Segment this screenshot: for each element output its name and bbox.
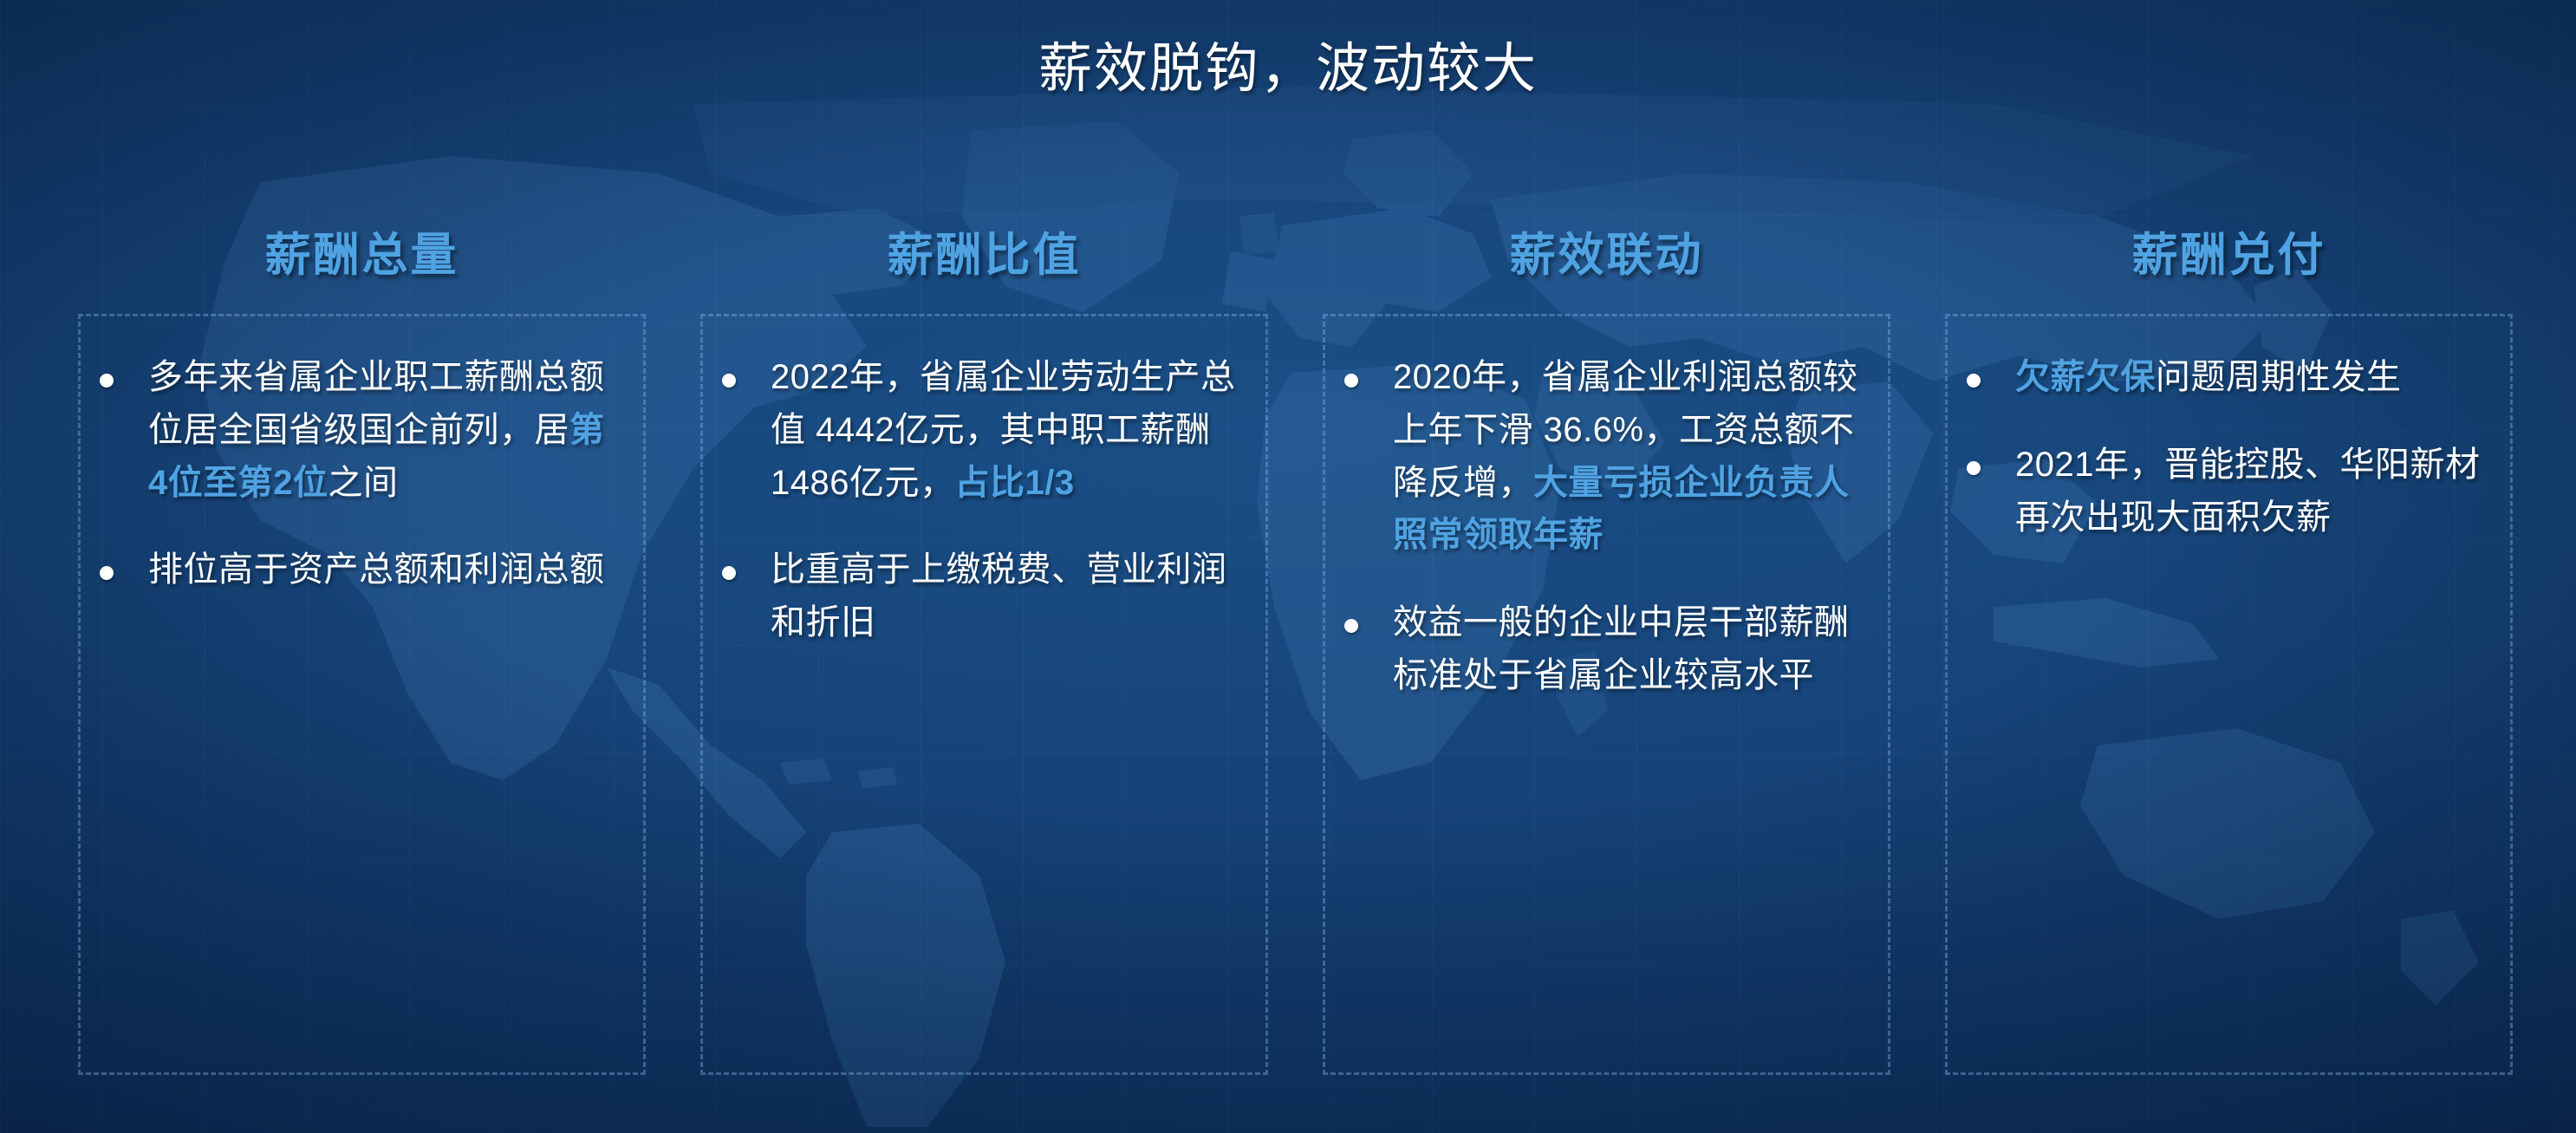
plain-text: 之间 bbox=[329, 464, 399, 502]
column-box-4: 欠薪欠保问题周期性发生 2021年，晋能控股、华阳新材再次出现大面积欠薪 bbox=[1945, 314, 2513, 1075]
bullet-dot-icon bbox=[1344, 619, 1358, 633]
page-title: 薪效脱钩，波动较大 bbox=[0, 24, 2576, 102]
bullet-text: 欠薪欠保问题周期性发生 bbox=[2015, 351, 2484, 404]
bullet-text: 2020年，省属企业利润总额较上年下滑 36.6%，工资总额不降反增，大量亏损企… bbox=[1393, 351, 1862, 562]
list-item: 2022年，省属企业劳动生产总值 4442亿元，其中职工薪酬1486亿元，占比1… bbox=[722, 351, 1239, 509]
plain-text: 比重高于上缴税费、营业利润和折旧 bbox=[771, 550, 1227, 641]
bullet-text: 2021年，晋能控股、华阳新材再次出现大面积欠薪 bbox=[2015, 439, 2484, 544]
column-box-1: 多年来省属企业职工薪酬总额位居全国省级国企前列，居第4位至第2位之间 排位高于资… bbox=[78, 314, 646, 1075]
list-item: 多年来省属企业职工薪酬总额位居全国省级国企前列，居第4位至第2位之间 bbox=[100, 351, 617, 509]
column-salary-ratio: 薪酬比值 2022年，省属企业劳动生产总值 4442亿元，其中职工薪酬1486亿… bbox=[700, 208, 1268, 1075]
column-header-4: 薪酬兑付 bbox=[1945, 208, 2513, 314]
list-item: 排位高于资产总额和利润总额 bbox=[100, 544, 617, 596]
bullet-dot-icon bbox=[1967, 461, 1981, 475]
bullet-dot-icon bbox=[100, 374, 114, 387]
highlighted-text: 占比1/3 bbox=[954, 464, 1074, 502]
plain-text: 问题周期性发生 bbox=[2156, 358, 2402, 396]
highlighted-text: 欠薪欠保 bbox=[2015, 358, 2156, 396]
bullet-text: 排位高于资产总额和利润总额 bbox=[148, 544, 617, 596]
bullet-dot-icon bbox=[100, 566, 114, 580]
bullet-dot-icon bbox=[1344, 374, 1358, 387]
column-box-2: 2022年，省属企业劳动生产总值 4442亿元，其中职工薪酬1486亿元，占比1… bbox=[700, 314, 1268, 1075]
list-item: 2020年，省属企业利润总额较上年下滑 36.6%，工资总额不降反增，大量亏损企… bbox=[1344, 351, 1862, 562]
column-salary-payment: 薪酬兑付 欠薪欠保问题周期性发生 2021年，晋能控股、华阳新材再次出现大面积欠… bbox=[1945, 208, 2513, 1075]
list-item: 欠薪欠保问题周期性发生 bbox=[1967, 351, 2484, 404]
plain-text: 排位高于资产总额和利润总额 bbox=[148, 550, 605, 589]
plain-text: 多年来省属企业职工薪酬总额位居全国省级国企前列，居 bbox=[148, 358, 605, 449]
column-pay-performance-link: 薪效联动 2020年，省属企业利润总额较上年下滑 36.6%，工资总额不降反增，… bbox=[1323, 208, 1890, 1075]
list-item: 比重高于上缴税费、营业利润和折旧 bbox=[722, 544, 1239, 649]
slide-root: 薪效脱钩，波动较大 薪酬总量 多年来省属企业职工薪酬总额位居全国省级国企前列，居… bbox=[0, 0, 2576, 1133]
bullet-dot-icon bbox=[722, 566, 736, 580]
columns-container: 薪酬总量 多年来省属企业职工薪酬总额位居全国省级国企前列，居第4位至第2位之间 … bbox=[78, 208, 2514, 1075]
column-salary-total: 薪酬总量 多年来省属企业职工薪酬总额位居全国省级国企前列，居第4位至第2位之间 … bbox=[78, 208, 646, 1075]
column-header-3: 薪效联动 bbox=[1323, 208, 1890, 314]
bullet-text: 2022年，省属企业劳动生产总值 4442亿元，其中职工薪酬1486亿元，占比1… bbox=[771, 351, 1239, 509]
bullet-dot-icon bbox=[722, 374, 736, 387]
plain-text: 效益一般的企业中层干部薪酬标准处于省属企业较高水平 bbox=[1393, 603, 1850, 694]
bullet-text: 效益一般的企业中层干部薪酬标准处于省属企业较高水平 bbox=[1393, 596, 1862, 702]
bullet-dot-icon bbox=[1967, 374, 1981, 387]
bullet-text: 多年来省属企业职工薪酬总额位居全国省级国企前列，居第4位至第2位之间 bbox=[148, 351, 617, 509]
column-box-3: 2020年，省属企业利润总额较上年下滑 36.6%，工资总额不降反增，大量亏损企… bbox=[1323, 314, 1890, 1075]
column-header-2: 薪酬比值 bbox=[700, 208, 1268, 314]
list-item: 2021年，晋能控股、华阳新材再次出现大面积欠薪 bbox=[1967, 439, 2484, 544]
plain-text: 2021年，晋能控股、华阳新材再次出现大面积欠薪 bbox=[2015, 446, 2480, 537]
bullet-text: 比重高于上缴税费、营业利润和折旧 bbox=[771, 544, 1239, 649]
list-item: 效益一般的企业中层干部薪酬标准处于省属企业较高水平 bbox=[1344, 596, 1862, 702]
column-header-1: 薪酬总量 bbox=[78, 208, 646, 314]
